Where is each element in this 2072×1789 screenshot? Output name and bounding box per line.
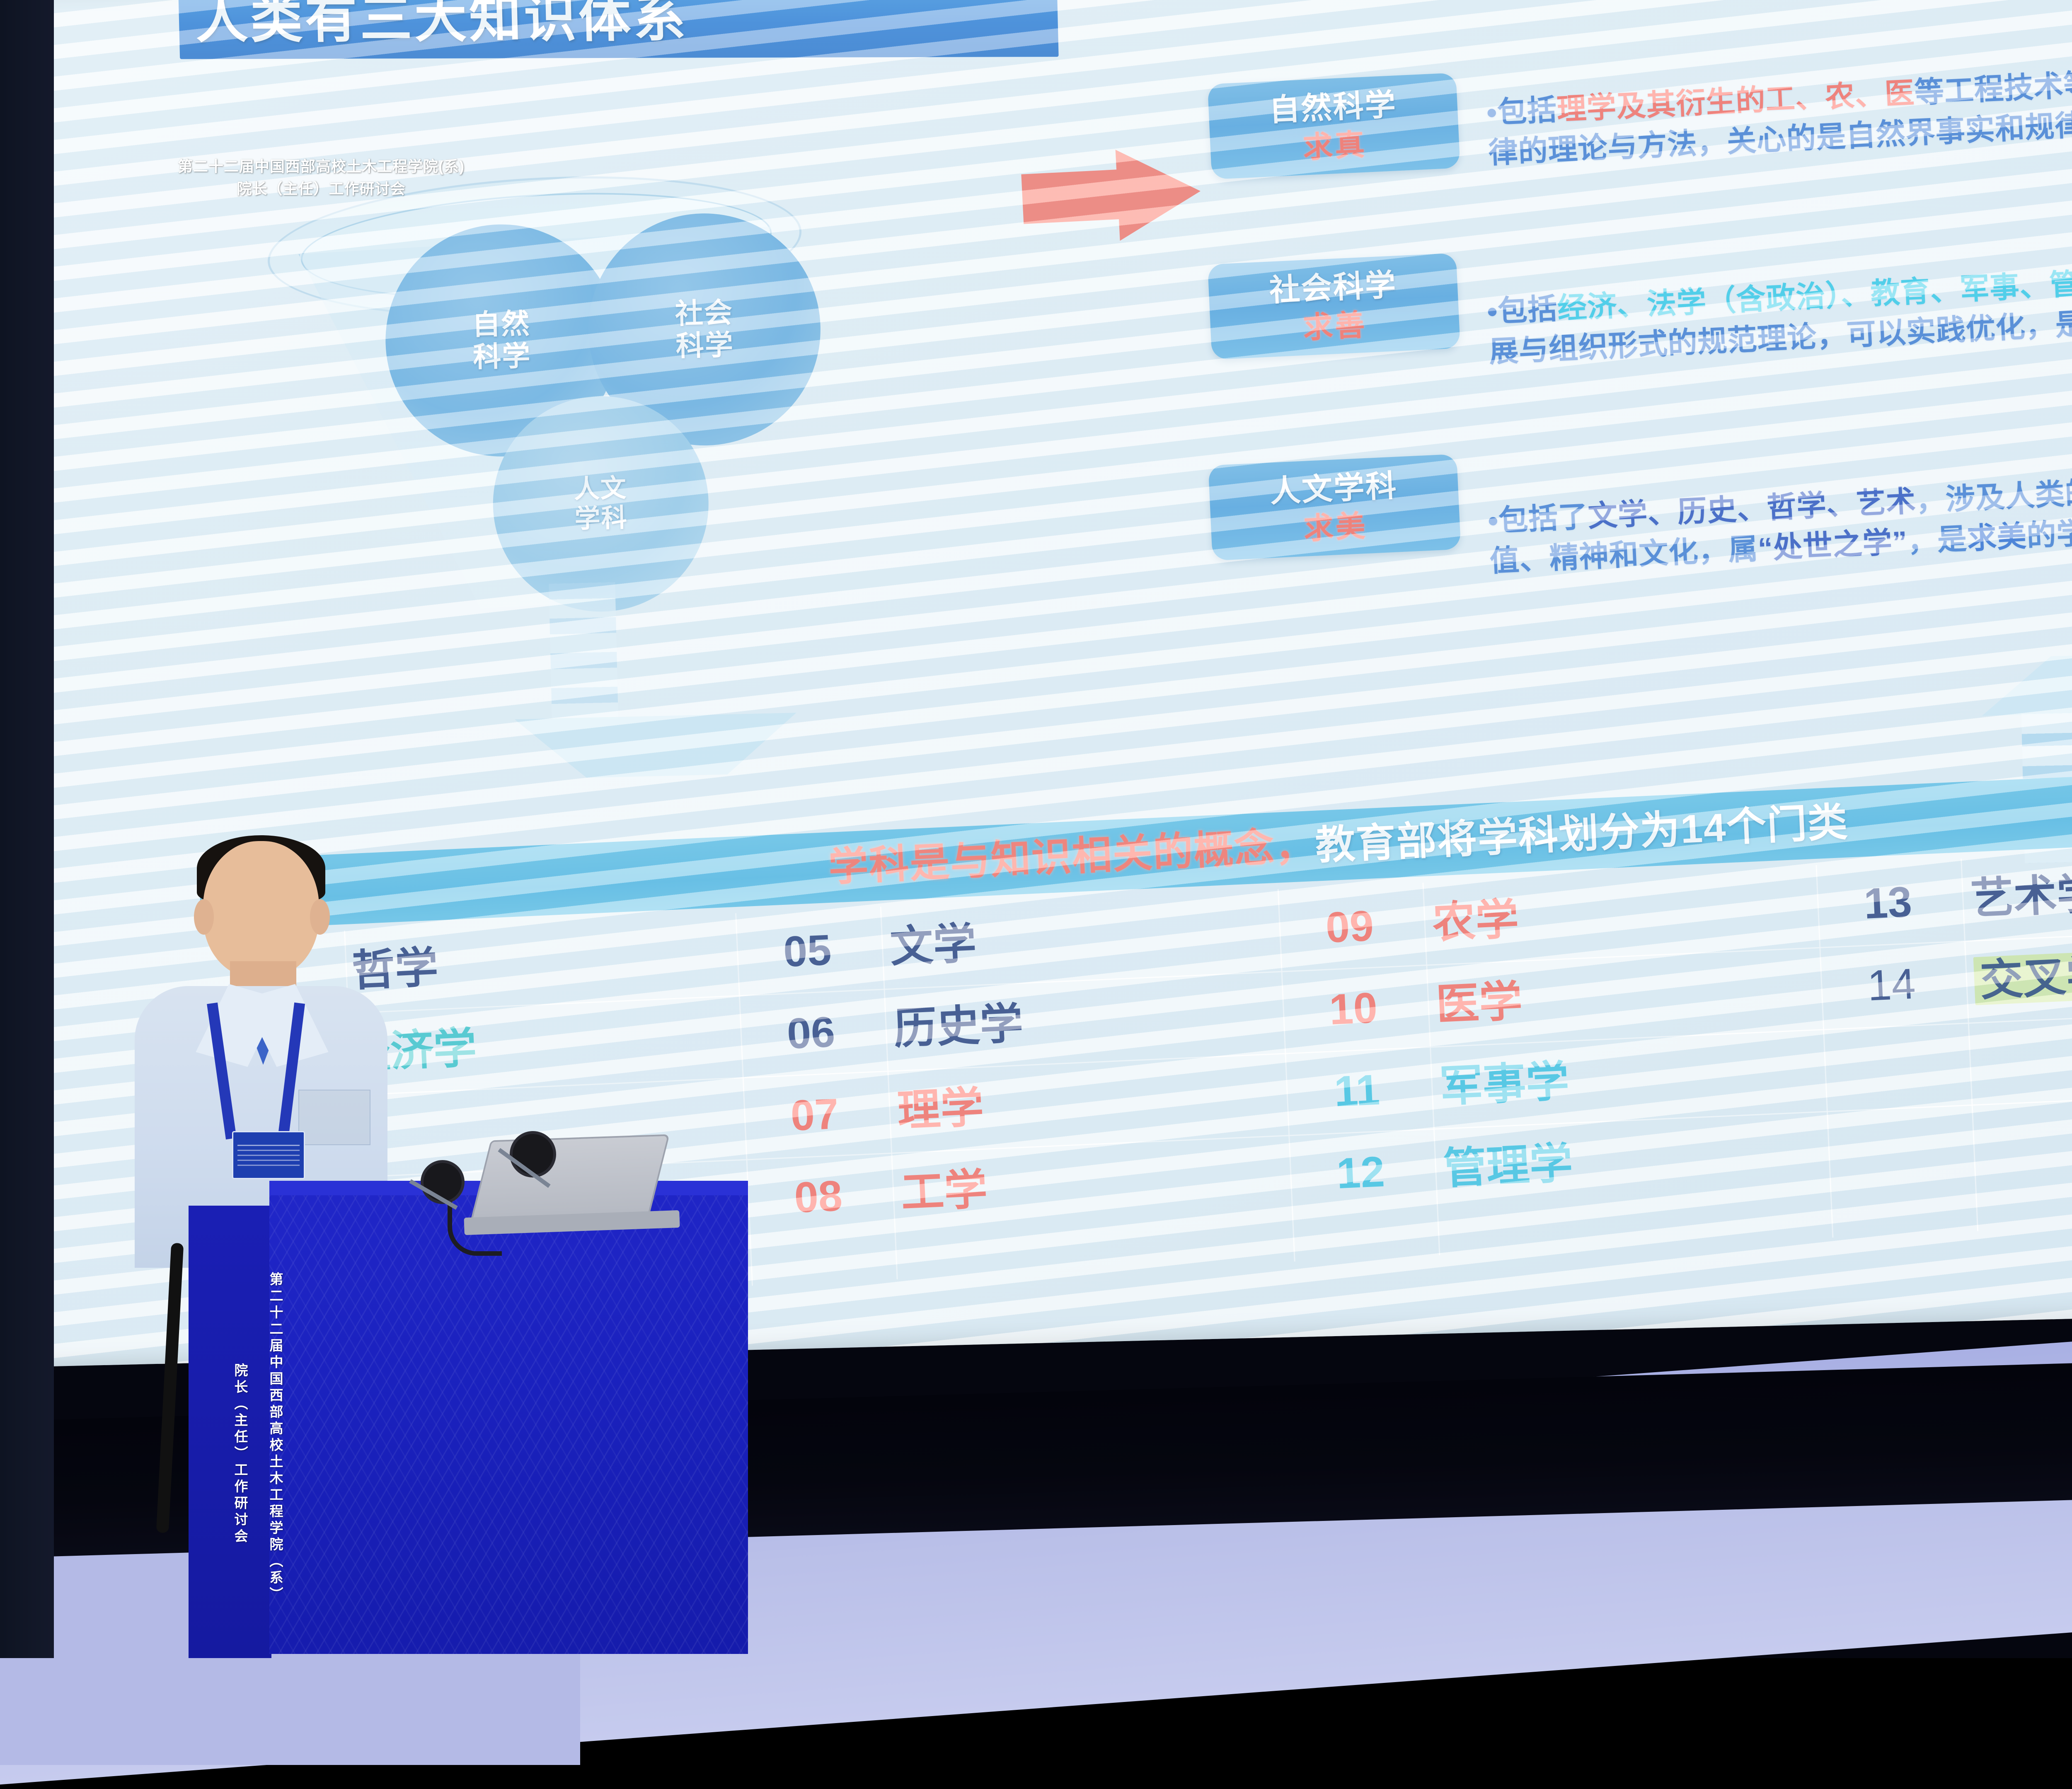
bullet-3-tailpost: 的学问 [2026,516,2072,553]
cell-name: 历史学 [892,975,1185,1070]
bullet-humanities: •包括了文学、历史、哲学、艺术，涉及人类的信仰、情感、道德、美感、价值、精神和文… [1487,453,2072,582]
bullet-social-science: •包括经济、法学（含政治）、教育、军事、管理学科，涉及人类社会关系、发展与组织形… [1486,244,2072,372]
badge-natural-science: 自然科学 求真 [1208,73,1460,179]
cell-name: 医学 [1434,951,1728,1046]
section-header-red: 学科是与知识相关的概念， [828,824,1317,890]
bullet-1-highlight: 理学及其衍生的工、农、医 [1556,77,1915,126]
podium-banner-text: 第二十二届中国西部高校土木工程学院(系) 院长（主任）工作研讨会 [102,155,541,200]
cell-name: 文学 [888,894,1182,989]
cell-name: 农学 [1431,869,1724,964]
speaker-ear-right [310,899,330,935]
microphone-left [404,1160,479,1226]
bullet-3-tailpre: ，是 [1907,523,1968,558]
bullet-3-quote: “处世之学” [1757,525,1908,565]
podium-side-vertical-text-left: 院长（主任）工作研讨会 [230,1363,250,1653]
bullet-natural-science: •包括理学及其衍生的工、农、医等工程技术等学科门类。涉及人类认识自然规律的理论与… [1486,45,2072,174]
cell-name-highlighted: 交叉学科 [1973,927,2072,1022]
cell-num: 13 [1820,859,1956,947]
bullet-3-lead: 包括了 [1498,500,1589,537]
badge-humanities: 人文学科 求美 [1208,454,1461,561]
bullet-3-highlight: 文学、历史、哲学、艺术 [1587,485,1917,533]
cell-num: 10 [1285,965,1421,1053]
left-wall [0,0,54,1658]
cell-name: 交叉学科 [1973,949,2072,1006]
bullet-3-tailkey: 求美 [1966,520,2028,556]
conference-stage: 人类有三大知识体系 自然科学 社会科学 人文学科 [0,0,2072,1658]
cell-name: 工学 [899,1139,1193,1234]
bullet-dot-1: • [1486,97,1498,130]
podium-side-vertical-text-right: 第二十二届中国西部高校土木工程学院（系） [265,1272,285,1645]
bullet-dot-3: • [1487,505,1500,538]
knowledge-funnel-diagram: 自然科学 社会科学 人文学科 [253,167,843,616]
cell-num: 14 [1823,941,1959,1029]
microphone-right [485,1131,564,1226]
bullet-dot-2: • [1486,295,1499,329]
podium-front-panel [269,1195,748,1654]
cell-num: 06 [743,989,879,1077]
cell-num: 12 [1293,1129,1428,1217]
cell-name: 艺术学 [1969,845,2072,940]
badge-social-science: 社会科学 求善 [1208,253,1460,360]
cell-num: 07 [747,1071,883,1159]
podium-banner-line2: 院长（主任）工作研讨会 [102,178,541,200]
down-arrow-icon [503,581,665,780]
cell-num: 09 [1282,883,1418,971]
cell-num: 11 [1289,1047,1425,1135]
red-right-arrow-icon [1020,145,1203,258]
speaker-shirt-pocket [298,1090,370,1145]
speaker-head [203,841,319,978]
slide-title: 人类有三大知识体系 [195,0,1058,53]
bullet-1-lead: 包括 [1496,94,1558,129]
speaker-ear-left [194,899,214,935]
circle-label-humanities: 人文学科 [574,474,628,534]
cell-name: 理学 [896,1057,1189,1152]
bullet-2-lead: 包括 [1497,293,1559,328]
cell-num: 05 [739,907,875,995]
cell-name: 管理学 [1442,1115,1735,1210]
cell-name: 军事学 [1438,1033,1731,1128]
podium-banner-line1: 第二十二届中国西部高校土木工程学院(系) [102,155,541,178]
circle-label-social: 社会科学 [675,297,734,363]
circle-label-natural: 自然科学 [472,307,532,373]
cell-num: 08 [750,1153,886,1241]
